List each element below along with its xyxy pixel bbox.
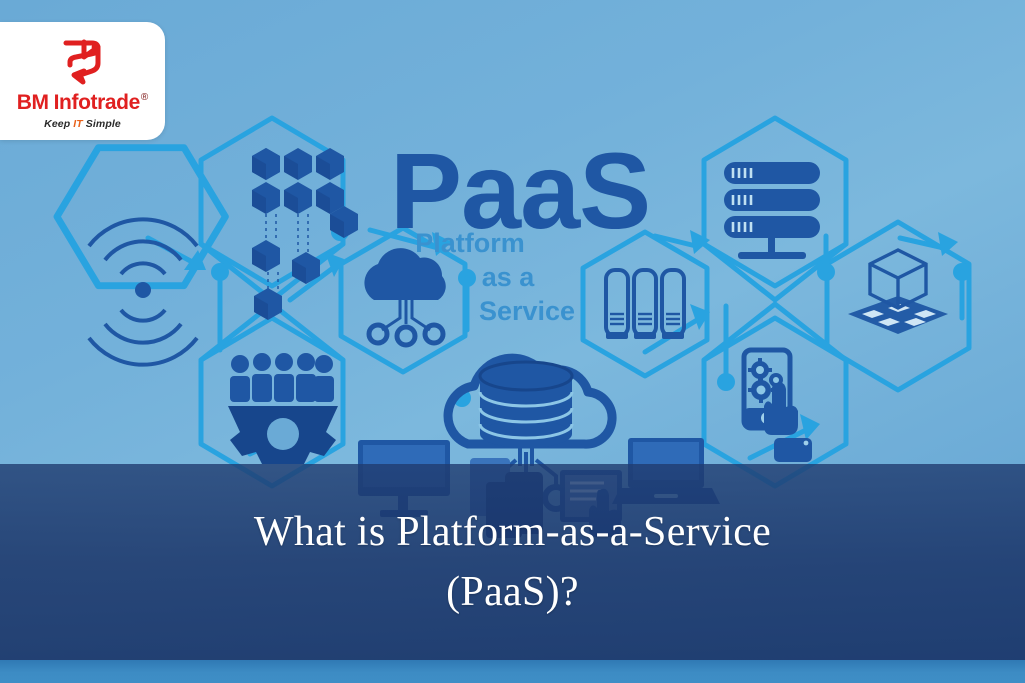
title-line-2: (PaaS)? (446, 570, 579, 614)
cube-on-grid-icon (848, 250, 948, 334)
paas-sub-line2: as a (482, 262, 536, 292)
tagline-prefix: Keep (44, 118, 73, 130)
paas-sub-line1: Platform (415, 228, 525, 258)
cloud-network-icon (364, 248, 445, 345)
title-line-1: What is Platform-as-a-Service (254, 510, 771, 554)
logo-tagline: Keep IT Simple (44, 118, 121, 130)
paas-sub-line3: Service (479, 296, 575, 326)
logo-infotrade-text: Infotrade (54, 91, 140, 115)
logo-wordmark: BM Infotrade ® (17, 91, 148, 115)
server-towers-icon (606, 270, 684, 339)
brand-logo-card[interactable]: BM Infotrade ® Keep IT Simple (0, 22, 165, 140)
wifi-signal-icon (89, 219, 197, 364)
logo-bm-text: BM (17, 91, 49, 115)
team-gear-icon (228, 353, 338, 464)
database-rack-icon (724, 162, 820, 259)
tagline-suffix: Simple (83, 118, 121, 130)
mobile-gears-touch-icon (744, 350, 812, 462)
bm-monogram-icon (54, 35, 112, 87)
registered-mark-icon: ® (141, 92, 148, 103)
banner-image: .hexline{fill:none;stroke:#29a3e0;stroke… (0, 0, 1025, 683)
banner-title: What is Platform-as-a-Service (PaaS)? (0, 464, 1025, 660)
tagline-it: IT (73, 118, 83, 130)
